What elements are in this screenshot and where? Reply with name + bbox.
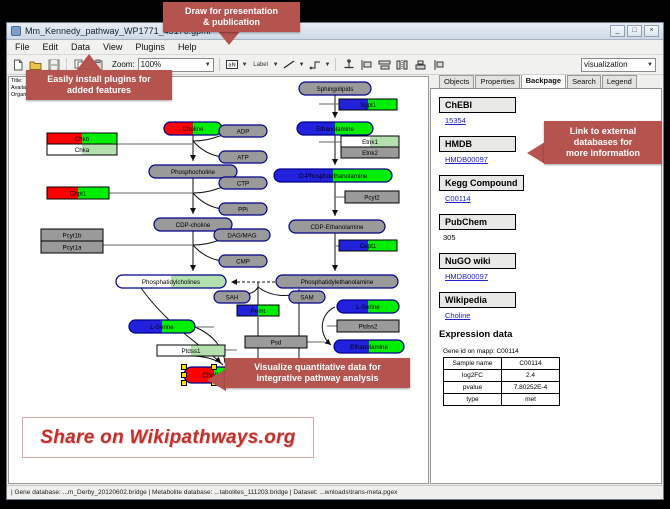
callout-draw: Draw for presentation & publication	[163, 2, 300, 32]
metabolite-node-sah[interactable]: SAH	[214, 291, 250, 303]
gene-node-chkb[interactable]: Chkb	[47, 133, 117, 144]
metabolite-node-ethanolamine2[interactable]: Ethanolamine	[334, 340, 404, 353]
node-label: Phosphatidylethanolamine	[301, 279, 374, 286]
title-bar: Mm_Kennedy_pathway_WP1771_45176.gpml _ □…	[7, 23, 663, 40]
maximize-button[interactable]: □	[627, 25, 642, 37]
align-left-icon[interactable]	[359, 57, 374, 72]
align-middle-icon[interactable]	[377, 57, 392, 72]
visualization-combo[interactable]: visualization ▼	[581, 58, 656, 72]
table-row: Sample name C00114	[444, 358, 560, 370]
side-panel-tabs: Objects Properties Backpage Search Legen…	[430, 76, 662, 89]
callout-plugins-line2: added features	[33, 85, 165, 96]
node-label: Ptdss2	[359, 323, 378, 330]
menu-file[interactable]: File	[13, 41, 32, 53]
cell-value: 7.80252E-4	[502, 382, 560, 394]
app-icon	[11, 26, 21, 36]
toolbar-separator-2	[219, 58, 220, 71]
node-label: Psd	[271, 339, 282, 346]
menu-plugins[interactable]: Plugins	[133, 41, 167, 53]
metabolite-node-ppi[interactable]: PPi	[219, 203, 267, 215]
callout-plugins-arrow-icon	[76, 54, 102, 71]
node-label: ADP	[237, 128, 250, 135]
metabolite-node-dagmag[interactable]: DAG/MAG	[214, 229, 270, 241]
resize-handle[interactable]	[181, 364, 187, 370]
db-header-chebi: ChEBI	[439, 97, 516, 113]
chevron-down-icon-datanode[interactable]: ▼	[242, 62, 248, 68]
status-text: | Gene database: ...m_Derby_20120602.bri…	[11, 489, 397, 496]
tab-search[interactable]: Search	[567, 75, 601, 88]
node-label: L-Serine	[356, 304, 380, 311]
tab-properties[interactable]: Properties	[475, 75, 519, 88]
gene-node-ptdss2[interactable]: Ptdss2	[337, 320, 399, 332]
node-label: Phosphatidylcholines	[142, 279, 200, 286]
gene-node-etnk1[interactable]: Etnk1	[341, 136, 399, 147]
chevron-down-icon: ▼	[205, 62, 211, 68]
node-label: CDP-Ethanolamine	[311, 224, 365, 231]
distribute-icon[interactable]	[395, 57, 410, 72]
callout-draw-line1: Draw for presentation	[170, 6, 293, 17]
interaction-icon[interactable]	[308, 57, 323, 72]
db-entry-kegg: Kegg Compound C00114	[439, 173, 661, 203]
db-header-wikipedia: Wikipedia	[439, 292, 516, 308]
label-tool[interactable]: Label	[251, 57, 271, 72]
node-label: Ethanolamine	[350, 344, 388, 351]
cell-value: met	[502, 394, 560, 406]
node-label: CDP-choline	[176, 222, 211, 229]
db-header-pubchem: PubChem	[439, 214, 516, 230]
node-label: DAG/MAG	[227, 232, 256, 239]
metabolite-node-l-serine1[interactable]: L-Serine	[129, 320, 195, 333]
status-bar: | Gene database: ...m_Derby_20120602.bri…	[7, 485, 663, 499]
cell-key: type	[444, 394, 502, 406]
node-label: CTP	[237, 180, 249, 187]
table-row: type met	[444, 394, 560, 406]
db-entry-pubchem: PubChem 305	[439, 212, 661, 242]
node-label: Ptdss1	[182, 348, 201, 355]
datanode-icon[interactable]: aN	[225, 57, 240, 72]
gene-node-pcyt1b[interactable]: Pcyt1b	[41, 229, 103, 241]
node-label: ATP	[237, 154, 249, 161]
cell-key: log2FC	[444, 370, 502, 382]
chevron-down-icon-label[interactable]: ▼	[273, 62, 279, 68]
gene-node-psd[interactable]: Psd	[245, 336, 307, 348]
db-value-pubchem: 305	[443, 233, 661, 242]
close-button[interactable]: ×	[644, 25, 659, 37]
metabolite-node-l-serine2[interactable]: L-Serine	[337, 300, 399, 313]
gene-node-pcyt1a[interactable]: Pcyt1a	[41, 241, 103, 253]
node-label: Chkb	[75, 136, 90, 143]
metabolite-node-ctp[interactable]: CTP	[219, 177, 267, 189]
toolbar-separator-3	[335, 58, 336, 71]
metabolite-node-ptdethanolamine[interactable]: Phosphatidylethanolamine	[276, 275, 398, 288]
menu-edit[interactable]: Edit	[41, 41, 61, 53]
node-label: CMP	[236, 258, 250, 265]
gene-id-line: Gene id on mapp: C00114	[443, 348, 661, 355]
node-label: Ethanolamine	[316, 126, 354, 133]
chevron-down-icon-line[interactable]: ▼	[299, 62, 305, 68]
menu-view[interactable]: View	[101, 41, 124, 53]
screenshot-root: Mm_Kennedy_pathway_WP1771_45176.gpml _ □…	[0, 0, 670, 509]
callout-plugins-line1: Easily install plugins for	[33, 74, 165, 85]
metabolite-node-cmp[interactable]: CMP	[219, 255, 267, 267]
node-label: PPi	[238, 206, 248, 213]
node-label: Pemt	[251, 308, 266, 315]
metabolite-node-o-phospho-eth[interactable]: O-Phosphoethanolamine	[274, 169, 392, 182]
minimize-button[interactable]: _	[610, 25, 625, 37]
metabolite-node-atp[interactable]: ATP	[219, 151, 267, 163]
window-controls: _ □ ×	[610, 25, 659, 37]
gene-node-chka[interactable]: Chka	[47, 144, 117, 155]
chevron-down-icon-interaction[interactable]: ▼	[325, 62, 331, 68]
metabolite-node-choline-top[interactable]: Choline	[164, 122, 222, 135]
gene-node-cept1[interactable]: Cept1	[339, 240, 397, 251]
tab-legend[interactable]: Legend	[602, 75, 637, 88]
db-entry-nugo: NuGO wiki HMDB00097	[439, 251, 661, 281]
cell-value: 2.4	[502, 370, 560, 382]
node-label: SAM	[300, 294, 313, 301]
resize-handle[interactable]	[181, 372, 187, 378]
order-icon[interactable]	[431, 57, 446, 72]
metabolite-node-ethanolamine1[interactable]: Ethanolamine	[297, 122, 373, 135]
node-label: Etnk1	[362, 139, 378, 146]
node-label: Sphingolipids	[317, 86, 354, 93]
callout-share-text: Share on Wikipathways.org	[40, 427, 295, 449]
callout-link-line1: Link to external	[550, 126, 656, 137]
expression-table: Sample name C00114 log2FC 2.4 pvalue 7.8…	[443, 357, 560, 406]
table-row: log2FC 2.4	[444, 370, 560, 382]
node-label: O-Phosphoethanolamine	[299, 173, 368, 180]
callout-link-line3: more information	[550, 148, 656, 159]
cell-key: Sample name	[444, 358, 502, 370]
db-link-kegg[interactable]: C00114	[445, 194, 661, 203]
node-label: Cept1	[360, 243, 377, 250]
db-link-wikipedia[interactable]: Choline	[445, 311, 661, 320]
anchor-icon[interactable]	[341, 57, 356, 72]
node-label: Chka	[75, 147, 90, 154]
node-label: Pcyt1b	[63, 232, 82, 239]
menu-bar: File Edit Data View Plugins Help	[7, 40, 663, 55]
menu-help[interactable]: Help	[176, 41, 199, 53]
callout-plugins: Easily install plugins for added feature…	[26, 70, 172, 100]
db-header-hmdb: HMDB	[439, 136, 516, 152]
db-header-nugo: NuGO wiki	[439, 253, 516, 269]
visualization-value: visualization	[584, 60, 628, 69]
group-icon[interactable]	[413, 57, 428, 72]
node-label: Chpt1	[70, 190, 87, 197]
gene-node-sgpl1[interactable]: Sgpl1	[339, 99, 397, 110]
node-label: Sgpl1	[360, 102, 376, 109]
callout-draw-line2: & publication	[170, 17, 293, 28]
node-label: Pcyt1a	[63, 244, 82, 251]
menu-data[interactable]: Data	[69, 41, 92, 53]
callout-visualize-arrow-icon	[207, 369, 226, 391]
metabolite-node-phosphocholine[interactable]: Phosphocholine	[149, 165, 237, 178]
db-entry-wikipedia: Wikipedia Choline	[439, 290, 661, 320]
metabolite-node-sam[interactable]: SAM	[289, 291, 325, 303]
line-icon[interactable]	[282, 57, 297, 72]
cell-value: C00114	[502, 358, 560, 370]
node-label: Choline	[183, 126, 205, 133]
callout-share: Share on Wikipathways.org	[22, 417, 314, 458]
resize-handle[interactable]	[181, 380, 187, 386]
gene-node-chpt1[interactable]: Chpt1	[47, 187, 109, 199]
callout-link-arrow-icon	[527, 142, 545, 164]
zoom-value: 100%	[141, 60, 161, 69]
tab-backpage[interactable]: Backpage	[521, 74, 566, 88]
new-file-icon[interactable]	[10, 57, 25, 72]
svg-text:aN: aN	[228, 63, 236, 69]
gene-node-ptdss1[interactable]: Ptdss1	[157, 345, 225, 356]
zoom-label: Zoom:	[112, 60, 135, 69]
metabolite-node-ptdcholines[interactable]: Phosphatidylcholines	[116, 275, 226, 288]
db-link-nugo[interactable]: HMDB00097	[445, 272, 661, 281]
db-header-kegg: Kegg Compound	[439, 175, 524, 191]
callout-link: Link to external databases for more info…	[544, 121, 662, 164]
callout-visualize-line2: integrative pathway analysis	[232, 373, 403, 384]
expression-data-title: Expression data	[439, 329, 661, 340]
metabolite-node-cdp-ethanolamine[interactable]: CDP-Ethanolamine	[289, 220, 385, 233]
node-label: Pcyt2	[364, 194, 380, 201]
tab-objects[interactable]: Objects	[439, 75, 474, 88]
chevron-down-icon-visualization: ▼	[647, 62, 653, 68]
node-label: Phosphocholine	[171, 169, 216, 176]
node-label: Etnk2	[362, 150, 378, 157]
gene-node-etnk2[interactable]: Etnk2	[341, 147, 399, 158]
node-label: SAH	[226, 294, 239, 301]
gene-node-pemt[interactable]: Pemt	[237, 305, 279, 316]
node-label: L-Serine	[150, 324, 174, 331]
callout-link-line2: databases for	[550, 137, 656, 148]
gene-node-pcyt2[interactable]: Pcyt2	[345, 191, 399, 203]
cell-key: pvalue	[444, 382, 502, 394]
callout-visualize-line1: Visualize quantitative data for	[232, 362, 403, 373]
metabolite-node-sphingolipids[interactable]: Sphingolipids	[299, 82, 371, 95]
table-row: pvalue 7.80252E-4	[444, 382, 560, 394]
callout-visualize: Visualize quantitative data for integrat…	[225, 358, 410, 388]
metabolite-node-adp[interactable]: ADP	[219, 125, 267, 137]
